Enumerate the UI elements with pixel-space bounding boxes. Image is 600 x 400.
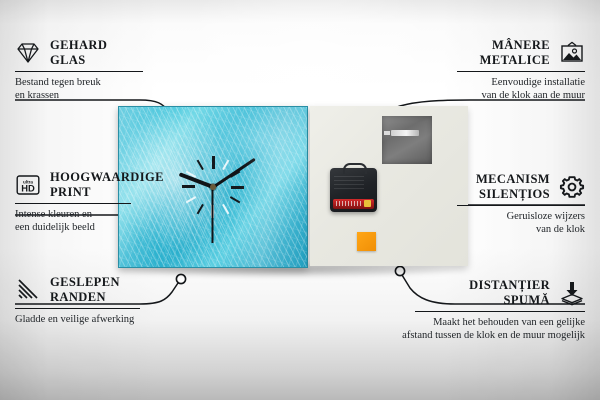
- arrow-down-layers-icon: [559, 280, 585, 306]
- callout-head: ultra HD HOOGWAARDIGE PRINT: [15, 170, 195, 199]
- callout-rule: [457, 71, 585, 72]
- callout-distantier-spuma: DISTANȚIER SPUMĂ Maakt het behouden van …: [400, 278, 585, 342]
- callout-rule: [15, 203, 131, 204]
- callout-rule: [15, 308, 140, 309]
- callout-title: MÂNERE METALICE: [480, 38, 550, 67]
- diagonal-lines-icon: [15, 277, 41, 303]
- picture-frame-icon: [559, 40, 585, 66]
- callout-manere-metalice: MÂNERE METALICE Eenvoudige installatie v…: [410, 38, 585, 102]
- callout-rule: [415, 311, 585, 312]
- callout-desc-line1: Maakt het behouden van een gelijke: [400, 316, 585, 329]
- callout-desc-line1: Intense kleuren en: [15, 208, 195, 221]
- battery-label: [336, 201, 362, 206]
- metal-hanger: [382, 116, 432, 164]
- callout-head: DISTANȚIER SPUMĂ: [400, 278, 585, 307]
- callout-head: GEHARD GLAS: [15, 38, 190, 67]
- callout-desc-line1: Gladde en veilige afwerking: [15, 313, 200, 326]
- battery-plus-terminal: [364, 200, 371, 207]
- callout-head: GESLEPEN RANDEN: [15, 275, 200, 304]
- callout-title: DISTANȚIER SPUMĂ: [469, 278, 550, 307]
- callout-desc-line1: Bestand tegen breuk: [15, 76, 190, 89]
- callout-title: HOOGWAARDIGE PRINT: [50, 170, 164, 199]
- callout-desc-line2: en krassen: [15, 89, 190, 102]
- callout-title: GEHARD GLAS: [50, 38, 107, 67]
- gear-icon: [559, 174, 585, 200]
- hanger-slot: [391, 130, 419, 136]
- callout-hoogwaardige-print: ultra HD HOOGWAARDIGE PRINT Intense kleu…: [15, 170, 195, 234]
- callout-rule: [457, 205, 585, 206]
- clock-mechanism: [330, 168, 377, 212]
- callout-head: MÂNERE METALICE: [410, 38, 585, 67]
- callout-title: MECANISM SILENȚIOS: [476, 172, 550, 201]
- foam-spacer: [357, 232, 376, 251]
- callout-head: MECANISM SILENȚIOS: [410, 172, 585, 201]
- callout-title: GESLEPEN RANDEN: [50, 275, 120, 304]
- ultra-hd-icon: ultra HD: [15, 172, 41, 198]
- callout-desc-line1: Eenvoudige installatie: [410, 76, 585, 89]
- svg-text:HD: HD: [21, 182, 35, 193]
- callout-geslepen-randen: GESLEPEN RANDEN Gladde en veilige afwerk…: [15, 275, 200, 326]
- mechanism-ridges: [334, 176, 364, 192]
- callout-mecanism-silentios: MECANISM SILENȚIOS Geruisloze wijzers va…: [410, 172, 585, 236]
- callout-desc-line2: van de klok aan de muur: [410, 89, 585, 102]
- callout-gehard-glas: GEHARD GLAS Bestand tegen breuk en krass…: [15, 38, 190, 102]
- infographic-canvas: GEHARD GLAS Bestand tegen breuk en krass…: [0, 0, 600, 400]
- mechanism-loop: [343, 163, 367, 174]
- diamond-icon: [15, 40, 41, 66]
- callout-desc-line1: Geruisloze wijzers: [410, 210, 585, 223]
- callout-desc-line2: van de klok: [410, 223, 585, 236]
- battery: [333, 199, 374, 209]
- callout-rule: [15, 71, 143, 72]
- callout-desc-line2: een duidelijk beeld: [15, 221, 195, 234]
- callout-desc-line2: afstand tussen de klok en de muur mogeli…: [400, 329, 585, 342]
